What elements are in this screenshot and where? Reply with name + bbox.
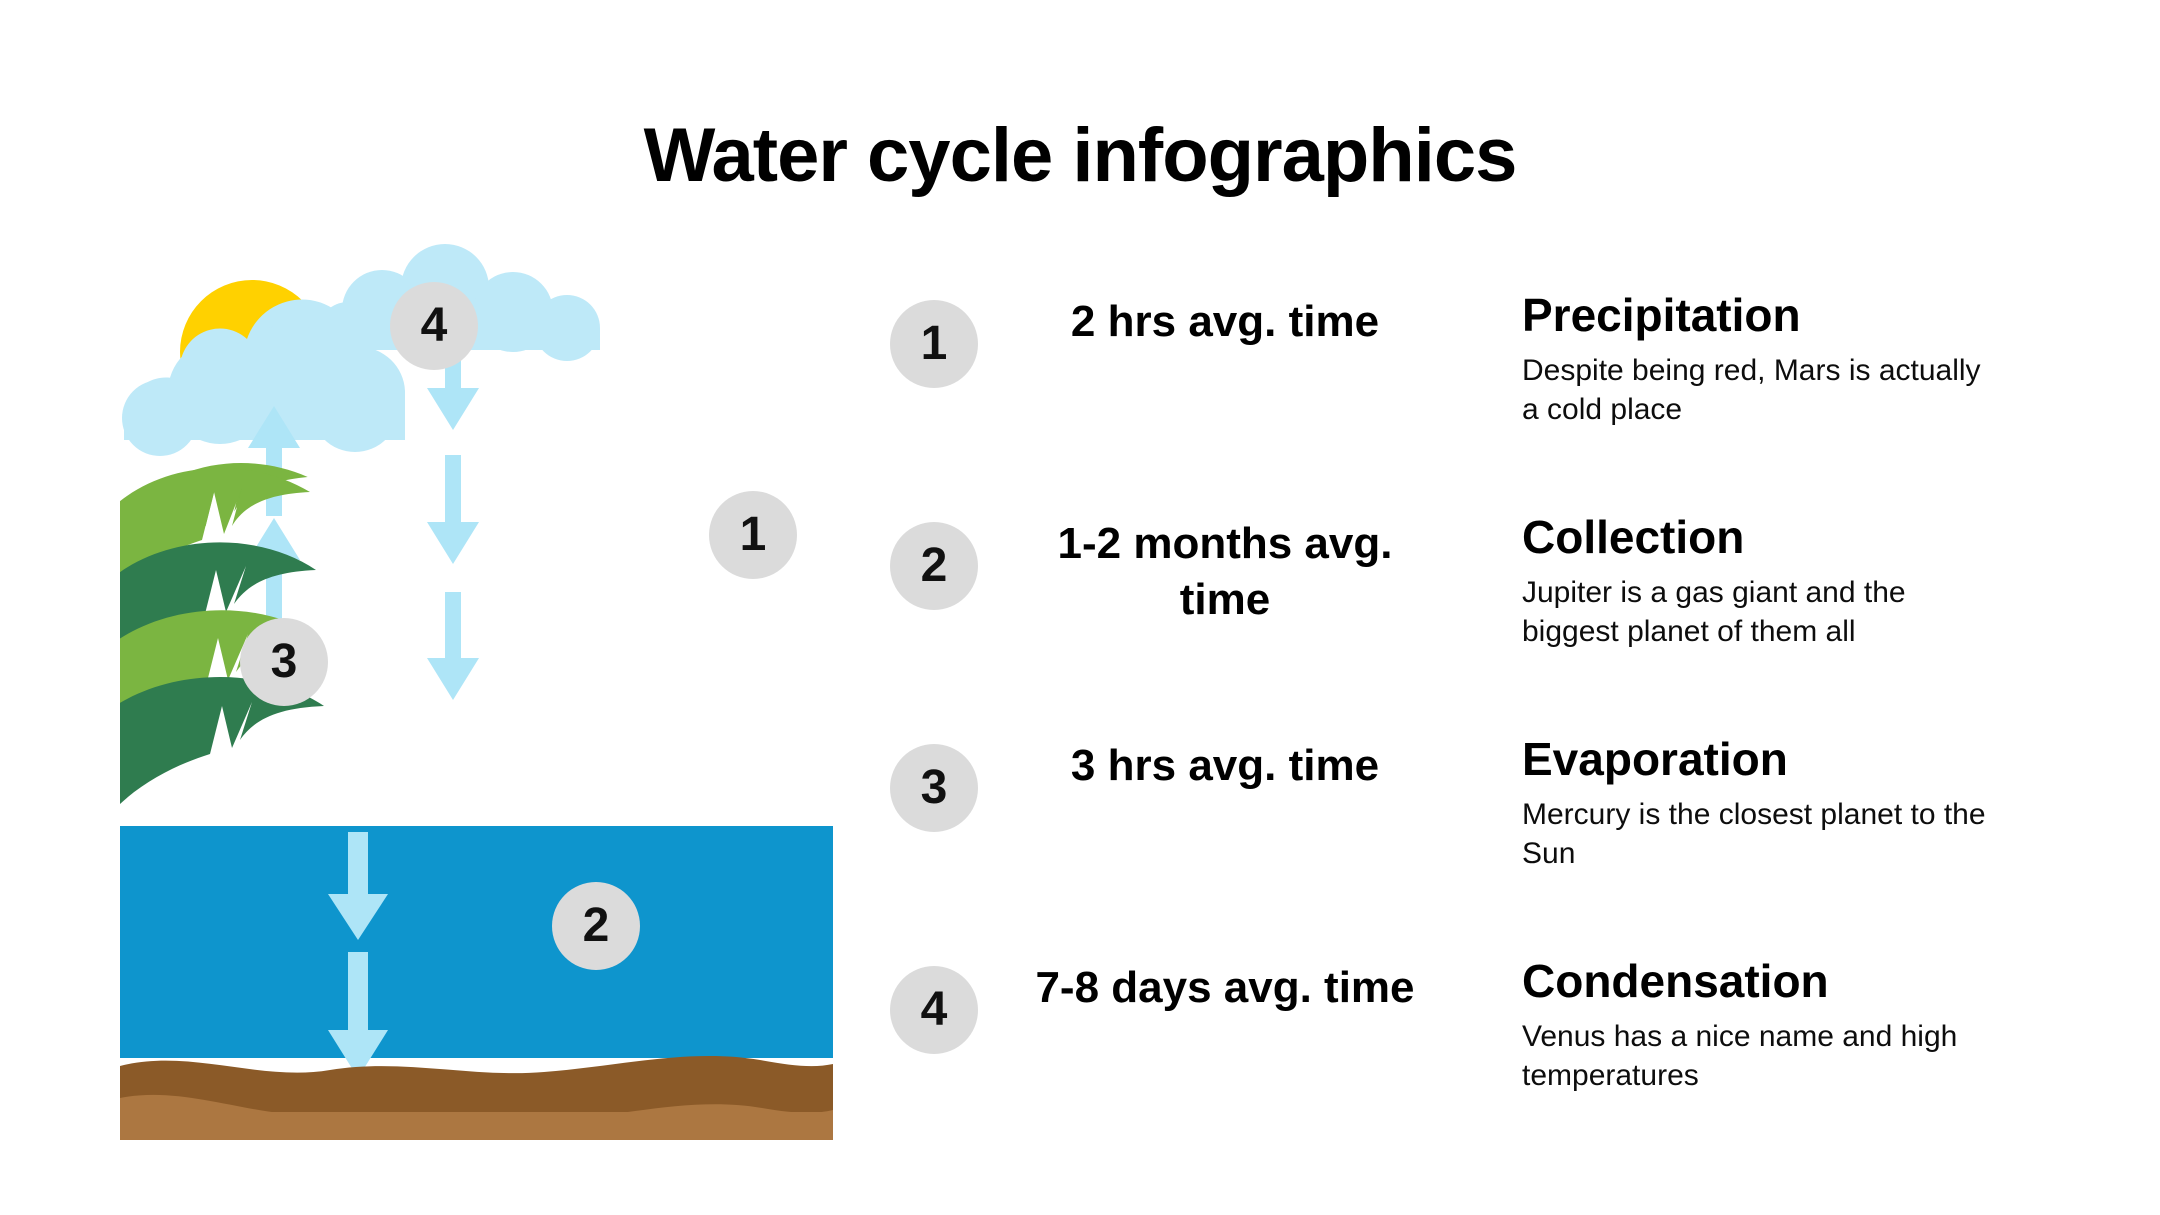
timing-badge-2: 2 xyxy=(890,522,978,610)
info-item-precipitation: Precipitation Despite being red, Mars is… xyxy=(1522,290,2032,512)
timing-label-3: 3 hrs avg. time xyxy=(1010,738,1440,794)
info-column: Precipitation Despite being red, Mars is… xyxy=(1522,290,2032,1178)
info-item-collection: Collection Jupiter is a gas giant and th… xyxy=(1522,512,2032,734)
water-cycle-illustration xyxy=(120,240,880,1140)
info-heading: Condensation xyxy=(1522,956,2032,1007)
info-item-evaporation: Evaporation Mercury is the closest plane… xyxy=(1522,734,2032,956)
info-body: Despite being red, Mars is actually a co… xyxy=(1522,351,2002,430)
page-title: Water cycle infographics xyxy=(0,118,2160,194)
illustration-badge-condensation: 4 xyxy=(390,282,478,370)
info-heading: Evaporation xyxy=(1522,734,2032,785)
timing-badge-1: 1 xyxy=(890,300,978,388)
precipitation-arrow-icon xyxy=(427,348,479,700)
info-heading: Collection xyxy=(1522,512,2032,563)
illustration-badge-collection: 2 xyxy=(552,882,640,970)
timing-label-1: 2 hrs avg. time xyxy=(1010,294,1440,350)
timing-label-2: 1-2 months avg. time xyxy=(1010,516,1440,629)
timing-badge-3: 3 xyxy=(890,744,978,832)
timing-row: 2 1-2 months avg. time xyxy=(880,522,1480,744)
timing-row: 4 7-8 days avg. time xyxy=(880,966,1480,1188)
soil-light-layer xyxy=(120,1112,833,1140)
info-heading: Precipitation xyxy=(1522,290,2032,341)
illustration-badge-evaporation: 3 xyxy=(240,618,328,706)
timing-row: 1 2 hrs avg. time xyxy=(880,300,1480,522)
info-body: Jupiter is a gas giant and the biggest p… xyxy=(1522,573,2002,652)
info-item-condensation: Condensation Venus has a nice name and h… xyxy=(1522,956,2032,1178)
water-body xyxy=(120,826,833,1058)
info-body: Venus has a nice name and high temperatu… xyxy=(1522,1017,2002,1096)
timing-label-4: 7-8 days avg. time xyxy=(1010,960,1440,1016)
timing-row: 3 3 hrs avg. time xyxy=(880,744,1480,966)
timing-badge-4: 4 xyxy=(890,966,978,1054)
evaporation-arrow-icon xyxy=(248,406,300,630)
timing-column: 1 2 hrs avg. time 2 1-2 months avg. time… xyxy=(880,300,1480,1188)
illustration-badge-precipitation: 1 xyxy=(709,491,797,579)
info-body: Mercury is the closest planet to the Sun xyxy=(1522,795,2002,874)
